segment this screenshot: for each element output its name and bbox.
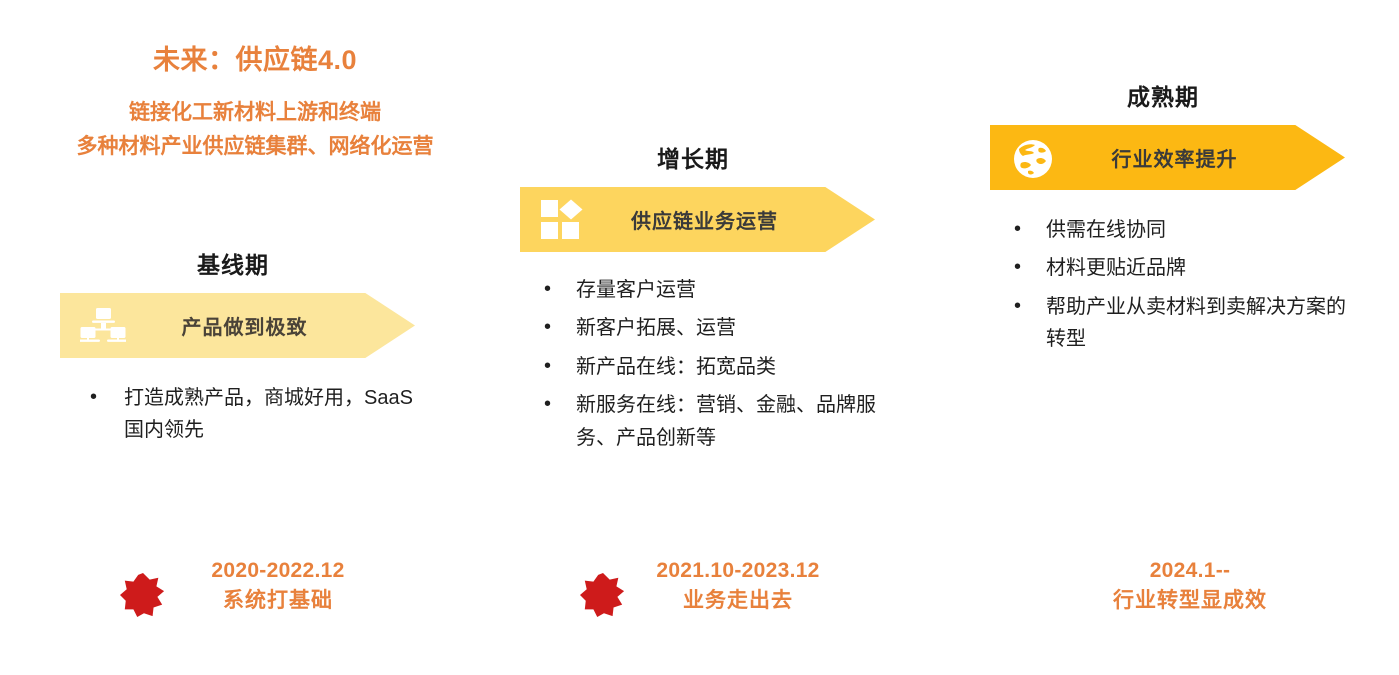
- timeline-note: 系统打基础: [96, 586, 460, 616]
- timeline-range: 2020-2022.12: [96, 556, 460, 586]
- list-item: 打造成熟产品，商城好用，SaaS国内领先: [68, 382, 428, 447]
- stage-column-maturity: 成熟期 行业效率提升 供需在线协同 材料更贴近品牌 帮助产业从卖材料到卖解决方案…: [990, 78, 1390, 372]
- globe-icon: [1004, 135, 1062, 181]
- future-subtitle: 链接化工新材料上游和终端 多种材料产业供应链集群、网络化运营: [20, 96, 490, 164]
- timeline-note: 业务走出去: [556, 586, 920, 616]
- list-item: 新客户拓展、运营: [528, 312, 888, 344]
- list-item: 存量客户运营: [528, 274, 888, 306]
- list-item: 新产品在线：拓宽品类: [528, 351, 888, 383]
- bullet-list-baseline: 打造成熟产品，商城好用，SaaS国内领先: [68, 382, 428, 447]
- timeline-footer-text-maturity: 2024.1-- 行业转型显成效: [990, 556, 1390, 617]
- stage-heading-maturity: 成熟期: [998, 78, 1328, 112]
- stage-heading-growth: 增长期: [528, 140, 858, 174]
- timeline-footer-text-baseline: 2020-2022.12 系统打基础: [60, 556, 460, 617]
- future-headline-block: 未来：供应链4.0 链接化工新材料上游和终端 多种材料产业供应链集群、网络化运营: [20, 44, 490, 164]
- stage-column-growth: 增长期 供应链业务运营 存量客户运营 新客户拓展、运营 新产品在线：拓宽品类 新…: [520, 140, 920, 470]
- network-devices-icon: [74, 303, 132, 349]
- stage-banner-maturity[interactable]: 行业效率提升: [990, 125, 1345, 190]
- list-item: 帮助产业从卖材料到卖解决方案的转型: [998, 291, 1358, 356]
- timeline-range: 2021.10-2023.12: [556, 556, 920, 586]
- timeline-range: 2024.1--: [990, 556, 1390, 586]
- stage-banner-label-maturity: 行业效率提升: [1062, 143, 1345, 172]
- list-item: 供需在线协同: [998, 214, 1358, 246]
- blocks-grid-icon: [534, 197, 592, 243]
- future-subtitle-line-2: 多种材料产业供应链集群、网络化运营: [20, 130, 490, 164]
- future-subtitle-line-1: 链接化工新材料上游和终端: [20, 96, 490, 130]
- stage-banner-baseline[interactable]: 产品做到极致: [60, 293, 415, 358]
- timeline-footer-maturity: 2024.1-- 行业转型显成效: [990, 548, 1390, 634]
- future-title: 未来：供应链4.0: [20, 44, 490, 78]
- timeline-footer-baseline: 2020-2022.12 系统打基础: [60, 548, 460, 634]
- stage-column-baseline: 基线期 产品做到极致 打造成熟产品，商城好用，SaaS国内: [60, 246, 460, 463]
- stage-heading-baseline: 基线期: [68, 246, 398, 280]
- list-item: 材料更贴近品牌: [998, 252, 1358, 284]
- slide-canvas: 未来：供应链4.0 链接化工新材料上游和终端 多种材料产业供应链集群、网络化运营…: [0, 0, 1399, 675]
- timeline-footer-text-growth: 2021.10-2023.12 业务走出去: [520, 556, 920, 617]
- list-item: 新服务在线：营销、金融、品牌服务、产品创新等: [528, 389, 888, 454]
- bullet-list-maturity: 供需在线协同 材料更贴近品牌 帮助产业从卖材料到卖解决方案的转型: [998, 214, 1358, 356]
- timeline-footer-growth: 2021.10-2023.12 业务走出去: [520, 548, 920, 634]
- stage-banner-growth[interactable]: 供应链业务运营: [520, 187, 875, 252]
- bullet-list-growth: 存量客户运营 新客户拓展、运营 新产品在线：拓宽品类 新服务在线：营销、金融、品…: [528, 274, 888, 454]
- stage-banner-label-baseline: 产品做到极致: [132, 311, 415, 340]
- timeline-note: 行业转型显成效: [990, 586, 1390, 616]
- stage-banner-label-growth: 供应链业务运营: [592, 205, 875, 234]
